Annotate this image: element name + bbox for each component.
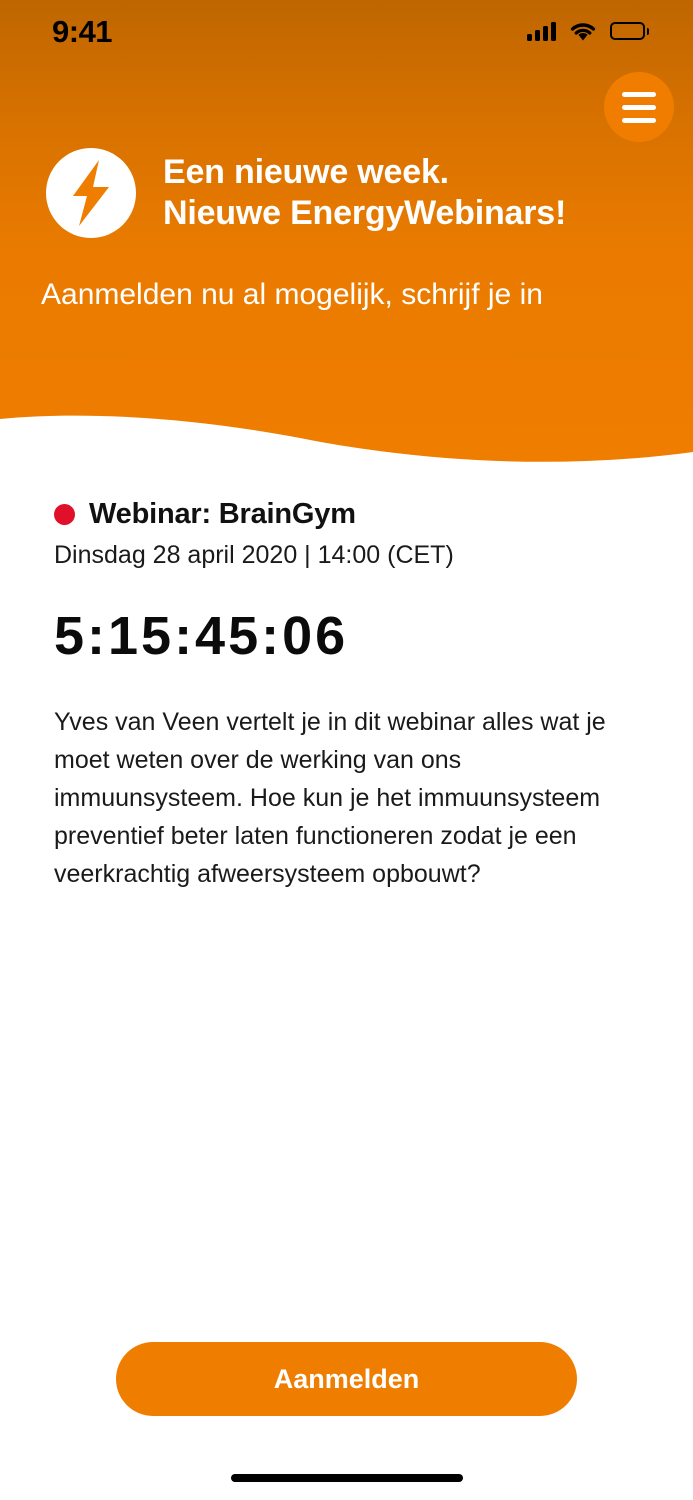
- hamburger-bar: [622, 105, 656, 110]
- cellular-signal-icon: [527, 21, 556, 41]
- status-bar-icons: [527, 21, 649, 42]
- home-indicator[interactable]: [231, 1474, 463, 1482]
- battery-full-icon: [610, 22, 649, 40]
- webinar-title-row: Webinar: BrainGym: [54, 498, 641, 531]
- hamburger-bar: [622, 92, 656, 97]
- webinar-datetime: Dinsdag 28 april 2020 | 14:00 (CET): [54, 541, 641, 570]
- hamburger-bar: [622, 118, 656, 123]
- cta-container: Aanmelden: [0, 1342, 693, 1416]
- phone-screen: 9:41: [0, 0, 693, 1500]
- status-bar-time: 9:41: [52, 16, 112, 47]
- webinar-description: Yves van Veen vertelt je in dit webinar …: [54, 703, 641, 893]
- header-banner: 9:41: [0, 0, 693, 470]
- brand-row: Een nieuwe week. Nieuwe EnergyWebinars!: [46, 148, 566, 238]
- status-bar: 9:41: [0, 0, 693, 62]
- countdown-timer: 5:15:45:06: [54, 608, 641, 665]
- webinar-title: Webinar: BrainGym: [89, 498, 356, 531]
- hamburger-menu-icon[interactable]: [604, 72, 674, 142]
- live-status-dot-icon: [54, 504, 75, 525]
- aanmelden-button[interactable]: Aanmelden: [116, 1342, 577, 1416]
- wifi-icon: [569, 21, 597, 42]
- lightning-bolt-logo-icon: [46, 148, 136, 238]
- header-headline: Een nieuwe week. Nieuwe EnergyWebinars!: [163, 152, 566, 235]
- webinar-content: Webinar: BrainGym Dinsdag 28 april 2020 …: [0, 470, 693, 893]
- header-subheadline: Aanmelden nu al mogelijk, schrijf je in: [41, 275, 543, 314]
